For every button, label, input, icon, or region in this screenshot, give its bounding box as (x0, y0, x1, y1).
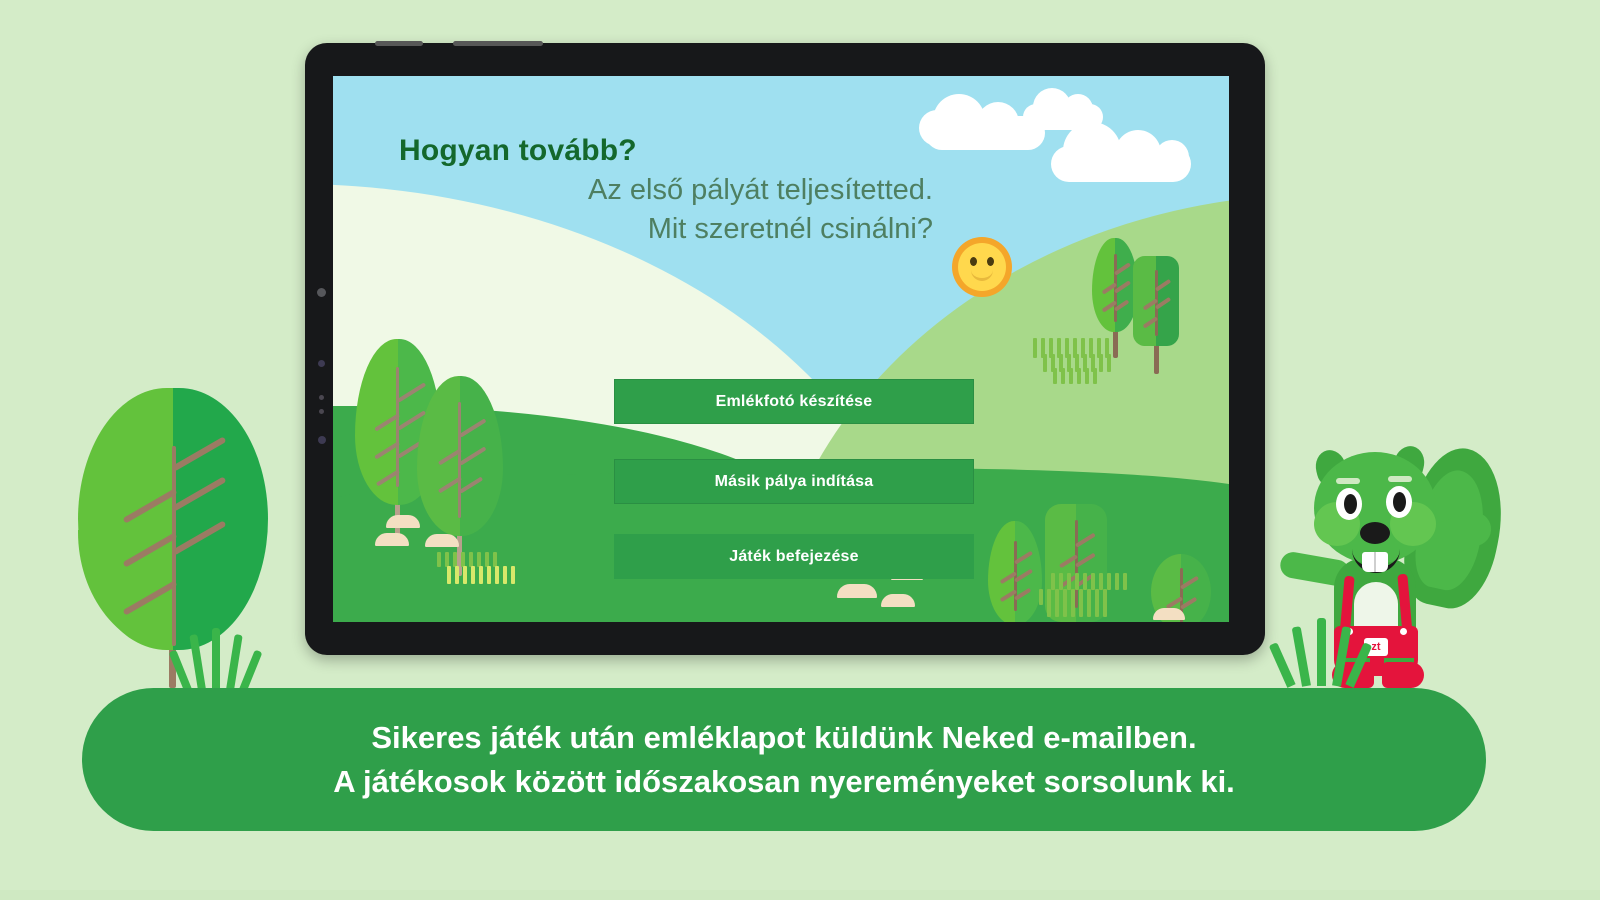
cloud-icon (1051, 146, 1191, 182)
leaf-half-dark (173, 388, 268, 650)
tablet-top-button-1[interactable] (375, 41, 423, 46)
front-camera-icon (317, 288, 326, 297)
mascot-teeth-split (1374, 552, 1376, 572)
tablet-screen: Hogyan tovább? Az első pályát teljesítet… (333, 76, 1229, 622)
screen-subtitle: Az első pályát teljesítetted. Mit szeret… (573, 171, 933, 249)
tablet-top-button-2[interactable] (453, 41, 543, 46)
rock-icon (837, 584, 877, 598)
button-take-photo[interactable]: Emlékfotó készítése (614, 379, 974, 424)
mascot-nose (1360, 522, 1390, 544)
grass-stubble (1051, 573, 1171, 615)
grass-stubble (1033, 338, 1153, 380)
banner-text: Sikeres játék után emléklapot küldünk Ne… (333, 716, 1235, 804)
rock-icon (881, 594, 915, 607)
mascot-eyebrow-left (1336, 478, 1360, 484)
sensor-icon (319, 395, 324, 400)
mascot-pupil-right (1393, 492, 1406, 512)
mascot-boot-right (1382, 662, 1424, 688)
sensor-icon (318, 436, 326, 444)
grass-tuft (1285, 614, 1357, 684)
mascot-eyebrow-right (1388, 476, 1412, 482)
sensor-icon (318, 360, 325, 367)
mascot-button-right (1400, 628, 1407, 635)
rock-icon (386, 515, 420, 528)
banner-line-2: A játékosok között időszakosan nyeremény… (333, 760, 1235, 804)
mascot-pupil-left (1344, 494, 1357, 514)
button-end-game[interactable]: Játék befejezése (614, 534, 974, 579)
decor-big-tree-left (78, 388, 268, 688)
ground-strip (0, 890, 1600, 900)
grass-tuft (182, 626, 252, 688)
screen-title: Hogyan tovább? (399, 134, 637, 168)
promo-banner: Sikeres játék után emléklapot küldünk Ne… (82, 688, 1486, 831)
tree-icon (988, 521, 1042, 622)
button-start-another-course[interactable]: Másik pálya indítása (614, 459, 974, 504)
grass-stubble (437, 552, 537, 586)
scene: Hogyan tovább? Az első pályát teljesítet… (0, 0, 1600, 900)
sun-icon (952, 237, 1012, 297)
rock-icon (375, 533, 409, 546)
leaf-vein (172, 446, 176, 646)
rock-icon (425, 534, 459, 547)
tablet-device: Hogyan tovább? Az első pályát teljesítet… (305, 43, 1265, 655)
sensor-icon (319, 409, 324, 414)
banner-line-1: Sikeres játék után emléklapot küldünk Ne… (333, 716, 1235, 760)
